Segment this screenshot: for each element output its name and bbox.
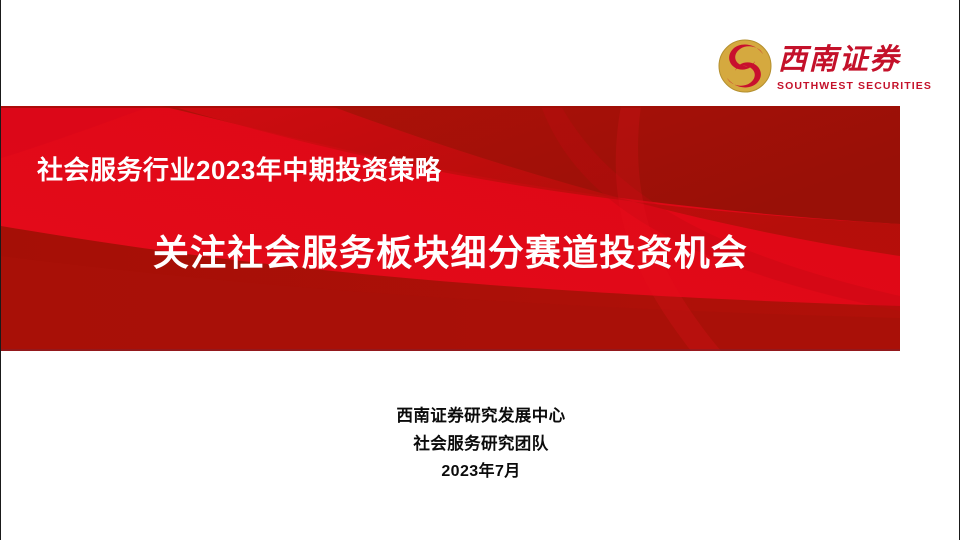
banner-text-group: 社会服务行业2023年中期投资策略 关注社会服务板块细分赛道投资机会 (1, 106, 900, 351)
presentation-slide: 西南证券 SOUTHWEST SECURITIES (0, 0, 960, 540)
footer-line-institution: 西南证券研究发展中心 (1, 402, 960, 430)
title-banner: 社会服务行业2023年中期投资策略 关注社会服务板块细分赛道投资机会 (1, 106, 900, 351)
company-logo: 西南证券 SOUTHWEST SECURITIES (717, 36, 907, 98)
logo-wordmark-chinese: 西南证券 (777, 39, 905, 79)
report-subtitle: 社会服务行业2023年中期投资策略 (37, 153, 441, 187)
logo-wordmark-english: SOUTHWEST SECURITIES (777, 80, 907, 92)
svg-text:西南证券: 西南证券 (778, 44, 902, 76)
report-main-title: 关注社会服务板块细分赛道投资机会 (1, 230, 900, 276)
footer-line-team: 社会服务研究团队 (1, 430, 960, 458)
footer-block: 西南证券研究发展中心 社会服务研究团队 2023年7月 (1, 402, 960, 486)
southwest-securities-swirl-logo-icon (717, 38, 773, 94)
footer-line-date: 2023年7月 (1, 458, 960, 486)
